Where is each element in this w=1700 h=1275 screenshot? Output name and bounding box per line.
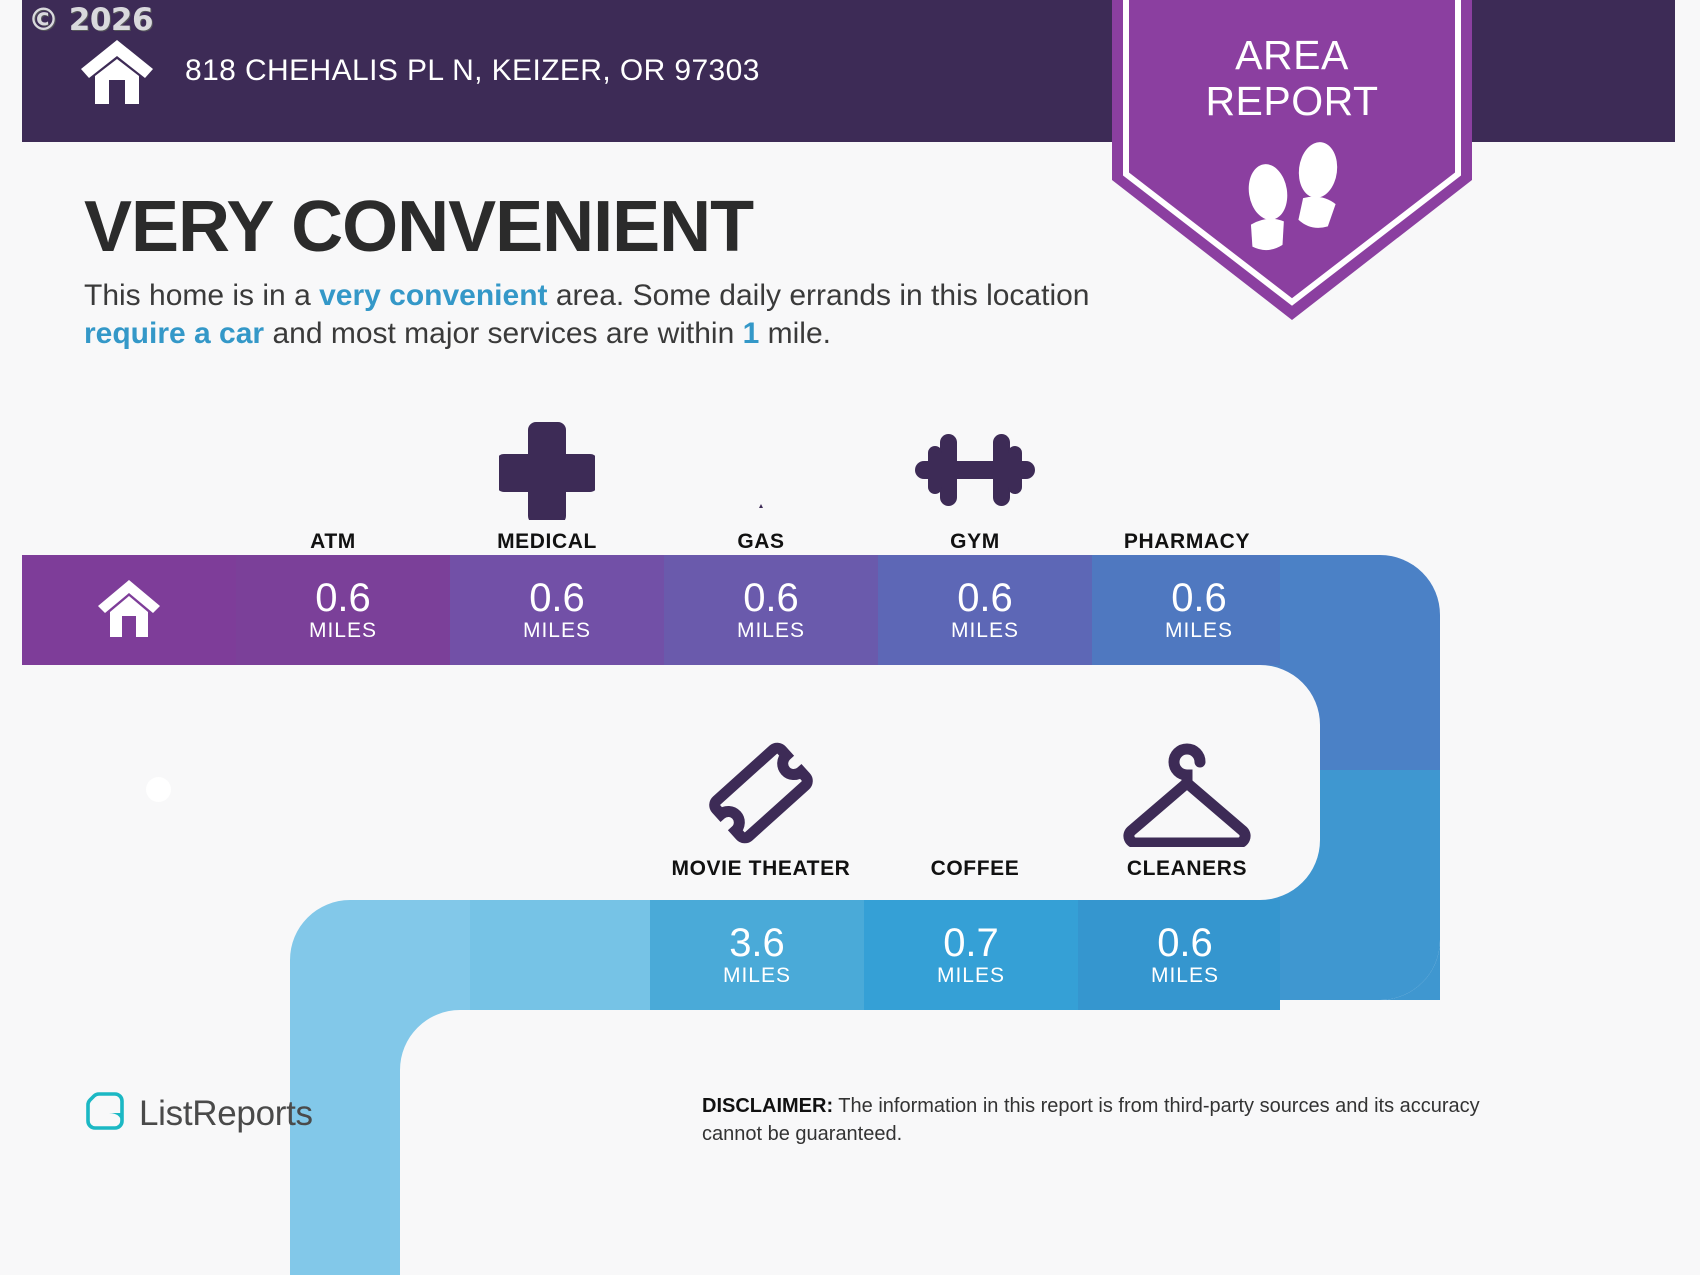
home-icon xyxy=(77,36,157,106)
summary-highlight-1: very convenient xyxy=(319,279,547,312)
home-icon xyxy=(95,577,163,644)
value-cell-coffee: 0.7 MILES xyxy=(864,900,1078,1010)
pharmacy-icon xyxy=(1080,408,1294,520)
icon-cell-gas: GAS xyxy=(654,408,868,554)
icon-cell-pharmacy: PHARMACY xyxy=(1080,408,1294,554)
icon-cell-movie-theater: MOVIE THEATER xyxy=(654,735,868,881)
value-atm: 0.6 xyxy=(315,577,371,619)
unit-gym: MILES xyxy=(951,619,1019,643)
listreports-logo-text: ListReports xyxy=(139,1094,313,1134)
summary-text: This home is in a very convenient area. … xyxy=(84,277,1104,353)
value-cell-cleaners: 0.6 MILES xyxy=(1078,900,1292,1010)
area-report-page: 818 CHEHALIS PL N, KEIZER, OR 97303 © 20… xyxy=(0,0,1700,1275)
value-cell-gas: 0.6 MILES xyxy=(664,555,878,665)
value-cell-pharmacy: 0.6 MILES xyxy=(1092,555,1306,665)
value-movie-theater: 3.6 xyxy=(729,922,785,964)
value-cell-movie-theater: 3.6 MILES xyxy=(650,900,864,1010)
medical-cross-icon xyxy=(440,408,654,520)
icon-cell-medical: MEDICAL xyxy=(440,408,654,554)
badge-line-2: REPORT xyxy=(1112,78,1472,124)
value-cell-gym: 0.6 MILES xyxy=(878,555,1092,665)
value-cell-medical: 0.6 MILES xyxy=(450,555,664,665)
row-1-values: 0.6 MILES 0.6 MILES 0.6 MILES 0.6 MILES … xyxy=(22,555,1440,665)
unit-atm: MILES xyxy=(309,619,377,643)
unit-cleaners: MILES xyxy=(1151,964,1219,988)
value-cell-atm: 0.6 MILES xyxy=(236,555,450,665)
summary-part-3: and most major services are within xyxy=(264,317,743,350)
unit-pharmacy: MILES xyxy=(1165,619,1233,643)
copyright-watermark: © 2026 xyxy=(28,2,153,38)
gas-pump-icon xyxy=(654,408,868,520)
unit-coffee: MILES xyxy=(937,964,1005,988)
coffee-cup-icon xyxy=(868,735,1082,847)
icon-label-gas: GAS xyxy=(654,530,868,554)
header-content: 818 CHEHALIS PL N, KEIZER, OR 97303 xyxy=(77,0,760,142)
icon-cell-gym: GYM xyxy=(868,408,1082,554)
value-medical: 0.6 xyxy=(529,577,585,619)
clothes-hanger-icon xyxy=(1080,735,1294,847)
value-gym: 0.6 xyxy=(957,577,1013,619)
value-cleaners: 0.6 xyxy=(1157,922,1213,964)
badge-line-1: AREA xyxy=(1112,32,1472,78)
summary-part-1: This home is in a xyxy=(84,279,319,312)
row-2-values: 3.6 MILES 0.7 MILES 0.6 MILES xyxy=(290,900,1440,1010)
icon-cell-cleaners: CLEANERS xyxy=(1080,735,1294,881)
summary-part-2: area. Some daily errands in this locatio… xyxy=(548,279,1090,312)
icon-label-pharmacy: PHARMACY xyxy=(1080,530,1294,554)
icon-label-cleaners: CLEANERS xyxy=(1080,857,1294,881)
icon-label-gym: GYM xyxy=(868,530,1082,554)
icon-label-coffee: COFFEE xyxy=(868,857,1082,881)
summary-highlight-3: 1 xyxy=(743,317,760,350)
icon-cell-atm: ATM xyxy=(226,408,440,554)
value-coffee: 0.7 xyxy=(943,922,999,964)
unit-medical: MILES xyxy=(523,619,591,643)
disclaimer: DISCLAIMER: The information in this repo… xyxy=(702,1092,1502,1148)
atm-icon xyxy=(226,408,440,520)
unit-gas: MILES xyxy=(737,619,805,643)
dumbbell-icon xyxy=(868,408,1082,520)
value-gas: 0.6 xyxy=(743,577,799,619)
listreports-logo[interactable]: ListReports xyxy=(84,1090,313,1137)
summary-part-4: mile. xyxy=(759,317,831,350)
disclaimer-label: DISCLAIMER: xyxy=(702,1095,833,1117)
value-pharmacy: 0.6 xyxy=(1171,577,1227,619)
icon-label-atm: ATM xyxy=(226,530,440,554)
icon-cell-coffee: COFFEE xyxy=(868,735,1082,881)
movie-ticket-icon xyxy=(654,735,868,847)
home-marker-cell xyxy=(22,555,236,665)
property-address: 818 CHEHALIS PL N, KEIZER, OR 97303 xyxy=(185,54,760,88)
summary-highlight-2: require a car xyxy=(84,317,264,350)
distance-path-chart: 0.6 MILES 0.6 MILES 0.6 MILES 0.6 MILES … xyxy=(0,555,1700,1275)
unit-movie-theater: MILES xyxy=(723,964,791,988)
area-report-badge: AREA REPORT xyxy=(1112,0,1472,320)
icon-label-movie-theater: MOVIE THEATER xyxy=(654,857,868,881)
path-dot-marker xyxy=(146,777,171,802)
listreports-house-icon xyxy=(84,1090,126,1137)
badge-label: AREA REPORT xyxy=(1112,32,1472,124)
page-title: VERY CONVENIENT xyxy=(84,186,753,268)
icon-label-medical: MEDICAL xyxy=(440,530,654,554)
